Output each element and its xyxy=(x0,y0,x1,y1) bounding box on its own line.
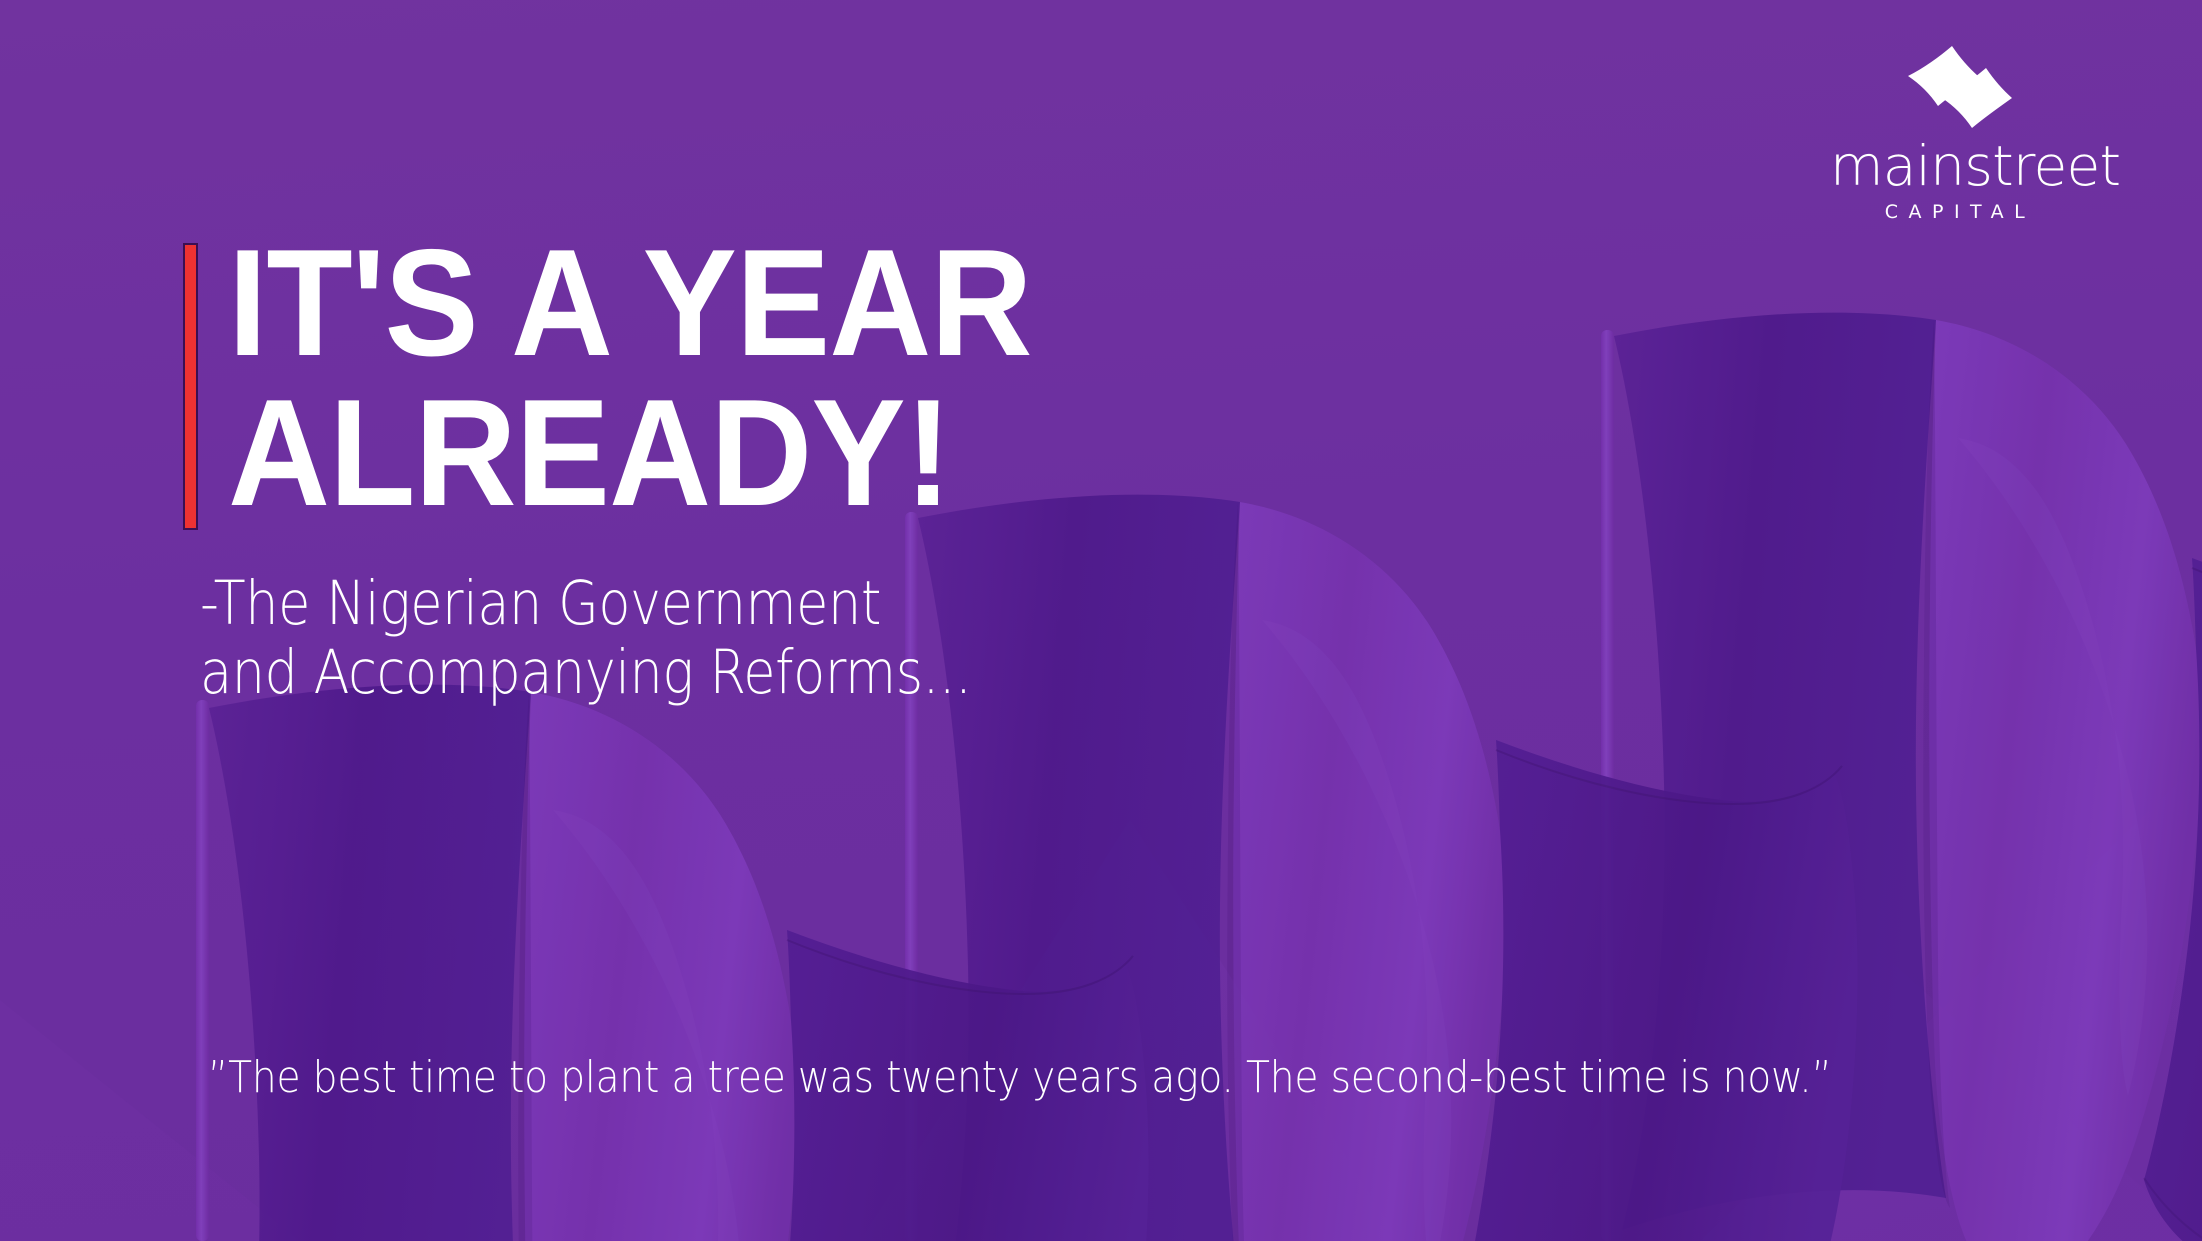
mainstreet-logo-mark-icon xyxy=(1890,44,2020,130)
logo-wordmark: mainstreet xyxy=(1830,140,2080,192)
logo-sub-wordmark: CAPITAL xyxy=(1840,201,2080,223)
presentation-slide: mainstreet CAPITAL IT'S A YEAR ALREADY! … xyxy=(0,0,2202,1241)
brand-logo: mainstreet CAPITAL xyxy=(1830,44,2080,223)
flag-left xyxy=(196,685,1148,1241)
accent-bar xyxy=(183,243,198,530)
subtitle: -The Nigerian Government and Accompanyin… xyxy=(200,570,971,708)
quote-text: ”The best time to plant a tree was twent… xyxy=(208,1052,1832,1105)
flag-center xyxy=(905,495,1857,1241)
headline-block: IT'S A YEAR ALREADY! xyxy=(183,243,1092,530)
page-title: IT'S A YEAR ALREADY! xyxy=(228,229,1032,530)
